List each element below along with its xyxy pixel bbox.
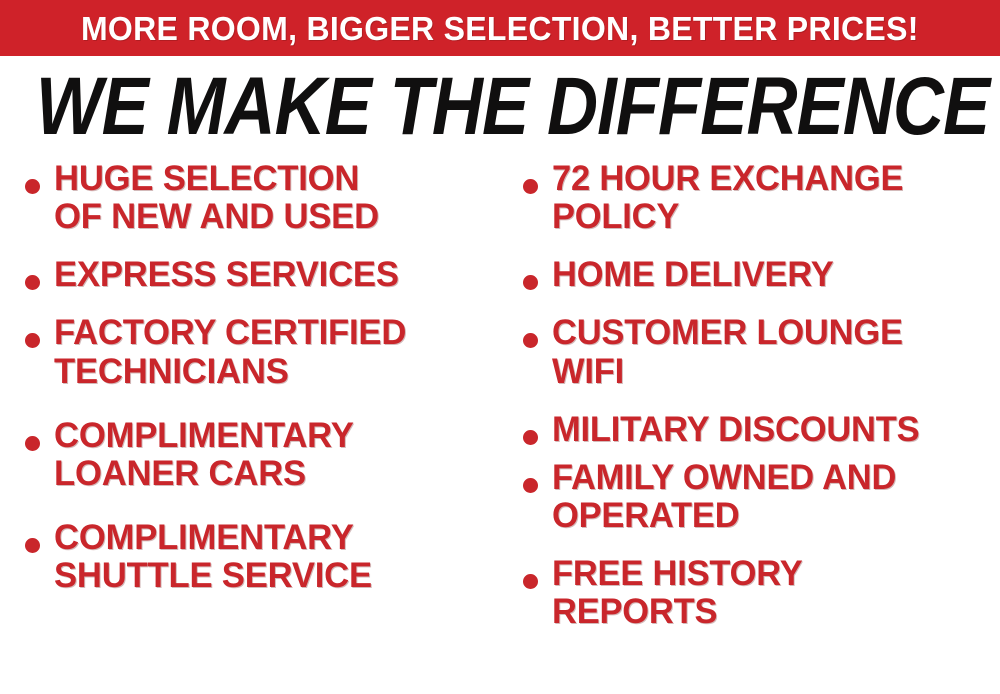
bullet-dot-icon: [523, 333, 538, 348]
bullet-dot-icon: [25, 538, 40, 553]
bullet-dot-icon: [523, 478, 538, 493]
list-item: HUGE SELECTION OF NEW AND USED: [14, 160, 504, 236]
benefits-column-right: 72 HOUR EXCHANGE POLICY HOME DELIVERY CU…: [512, 160, 1000, 645]
list-item: COMPLIMENTARY SHUTTLE SERVICE: [14, 519, 504, 595]
list-item: FACTORY CERTIFIED TECHNICIANS: [14, 314, 504, 390]
bullet-dot-icon: [523, 574, 538, 589]
list-item: HOME DELIVERY: [512, 256, 1000, 294]
list-item: EXPRESS SERVICES: [14, 256, 504, 294]
list-item-label: HUGE SELECTION OF NEW AND USED: [54, 160, 500, 236]
list-item: FAMILY OWNED AND OPERATED: [512, 459, 1000, 535]
list-item-label: FREE HISTORY REPORTS: [552, 555, 993, 631]
list-item-label: COMPLIMENTARY SHUTTLE SERVICE: [54, 519, 500, 595]
benefits-column-left: HUGE SELECTION OF NEW AND USED EXPRESS S…: [14, 160, 504, 609]
bullet-dot-icon: [25, 179, 40, 194]
bullet-dot-icon: [25, 333, 40, 348]
bullet-dot-icon: [523, 430, 538, 445]
benefits-columns: HUGE SELECTION OF NEW AND USED EXPRESS S…: [0, 160, 1000, 694]
top-red-strip: MORE ROOM, BIGGER SELECTION, BETTER PRIC…: [0, 0, 1000, 56]
bullet-dot-icon: [523, 179, 538, 194]
list-item: COMPLIMENTARY LOANER CARS: [14, 417, 504, 493]
list-item-label: HOME DELIVERY: [552, 256, 993, 294]
list-item-label: MILITARY DISCOUNTS: [552, 411, 993, 449]
list-item-label: FACTORY CERTIFIED TECHNICIANS: [54, 314, 500, 390]
list-item: CUSTOMER LOUNGE WIFI: [512, 314, 1000, 390]
promotional-banner: MORE ROOM, BIGGER SELECTION, BETTER PRIC…: [0, 0, 1000, 694]
bullet-dot-icon: [25, 275, 40, 290]
bullet-dot-icon: [523, 275, 538, 290]
list-item: 72 HOUR EXCHANGE POLICY: [512, 160, 1000, 236]
list-item-label: COMPLIMENTARY LOANER CARS: [54, 417, 500, 493]
list-item-label: CUSTOMER LOUNGE WIFI: [552, 314, 993, 390]
list-item: FREE HISTORY REPORTS: [512, 555, 1000, 631]
main-headline-text: WE MAKE THE DIFFERENCE: [36, 66, 989, 148]
top-strip-headline: MORE ROOM, BIGGER SELECTION, BETTER PRIC…: [81, 12, 919, 45]
list-item: MILITARY DISCOUNTS: [512, 411, 1000, 449]
list-item-label: 72 HOUR EXCHANGE POLICY: [552, 160, 993, 236]
bullet-dot-icon: [25, 436, 40, 451]
list-item-label: FAMILY OWNED AND OPERATED: [552, 459, 993, 535]
main-headline: WE MAKE THE DIFFERENCE: [0, 66, 1000, 142]
list-item-label: EXPRESS SERVICES: [54, 256, 500, 294]
